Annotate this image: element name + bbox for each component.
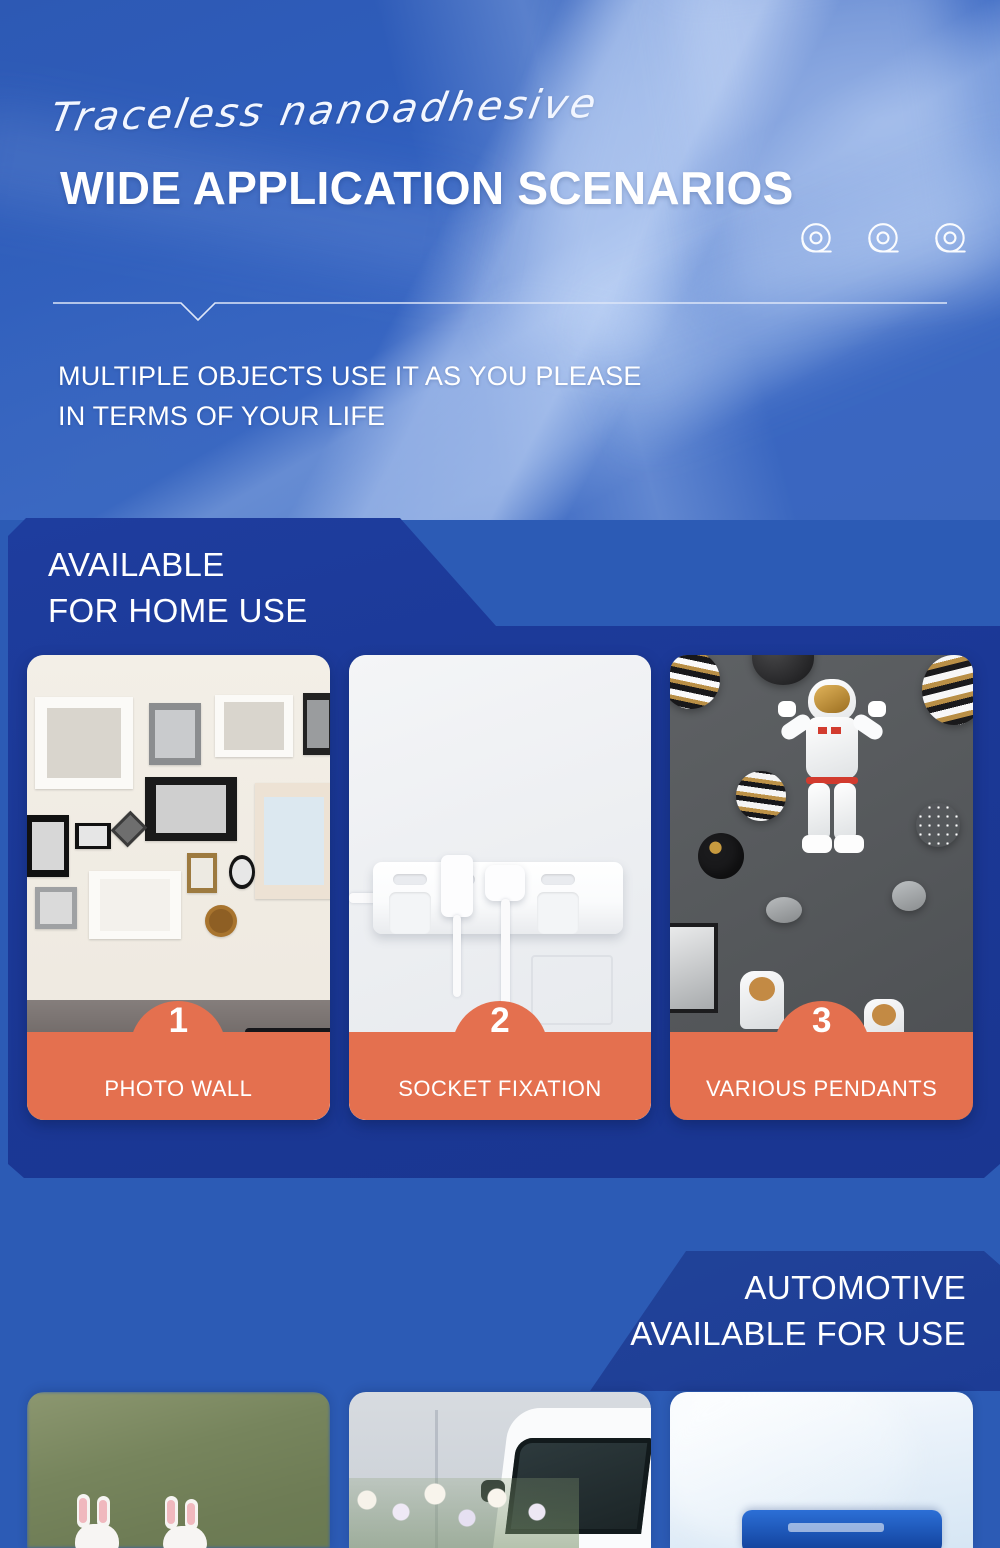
home-section-heading: AVAILABLE FOR HOME USE [48,542,308,633]
scenario-card-car-flowers[interactable] [349,1392,652,1548]
divider-with-chevron [53,300,947,322]
scenario-card-blue-device[interactable] [670,1392,973,1548]
scenario-card-socket-fixation[interactable]: 2 SOCKET FIXATION [349,655,652,1120]
card-label-band: 2 SOCKET FIXATION [349,1032,652,1120]
automotive-card-row [27,1392,973,1548]
tape-roll-icon [929,220,971,262]
automotive-section-heading: AUTOMOTIVE AVAILABLE FOR USE [630,1265,966,1356]
card-number: 3 [812,1003,831,1038]
blue-device-sky-image [670,1392,973,1548]
promo-page: Traceless nanoadhesive WIDE APPLICATION … [0,0,1000,1548]
car-windshield-flowers-image [349,1392,652,1548]
scenario-card-various-pendants[interactable]: 3 VARIOUS PENDANTS [670,655,973,1120]
hero-subtitle: MULTIPLE OBJECTS USE IT AS YOU PLEASE IN… [58,357,642,437]
card-caption: SOCKET FIXATION [349,1076,652,1102]
tape-roll-icon [795,220,837,262]
card-number: 1 [169,1003,188,1038]
page-title: WIDE APPLICATION SCENARIOS [60,158,794,219]
card-caption: VARIOUS PENDANTS [670,1076,973,1102]
card-number: 2 [490,1003,509,1038]
scenario-card-photo-wall[interactable]: 1 PHOTO WALL [27,655,330,1120]
card-label-band: 1 PHOTO WALL [27,1032,330,1120]
tape-roll-icon [862,220,904,262]
scenario-card-rabbits[interactable] [27,1392,330,1548]
tape-roll-icon-group [795,220,971,262]
card-label-band: 3 VARIOUS PENDANTS [670,1032,973,1120]
card-caption: PHOTO WALL [27,1076,330,1102]
home-card-row: 1 PHOTO WALL [27,655,973,1120]
